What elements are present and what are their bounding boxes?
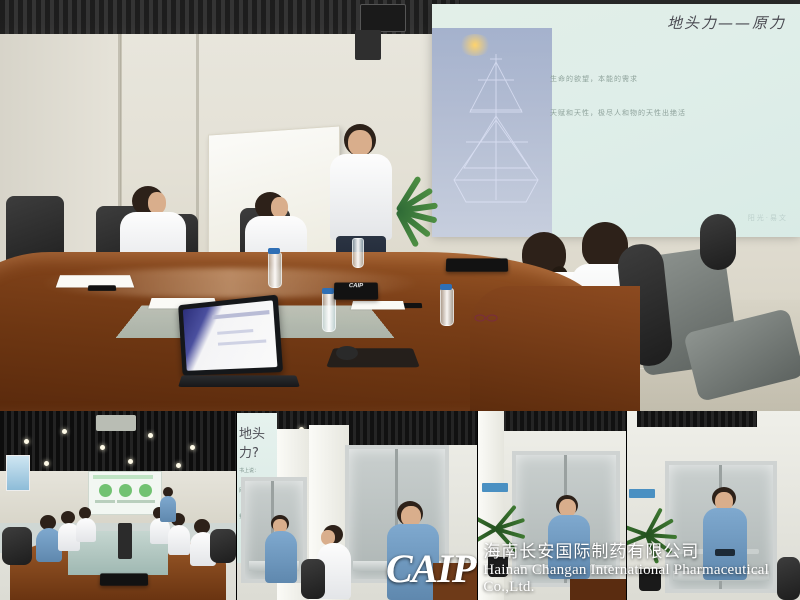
- bottle-cap: [322, 288, 334, 294]
- office-chair: [301, 559, 325, 599]
- company-name-cn: 海南长安国际制药有限公司: [483, 542, 800, 562]
- sailing-ship-illustration: [440, 50, 552, 230]
- sub-photo-a: [0, 411, 236, 600]
- projection-screen: [88, 471, 162, 515]
- office-chair: [2, 527, 32, 565]
- bottle-cap: [440, 284, 452, 290]
- ceiling-grille: [637, 411, 757, 427]
- ceiling-vent: [360, 4, 406, 32]
- watermark-text: 海南长安国际制药有限公司 Hainan Changan Internationa…: [483, 542, 800, 596]
- bottle-cap: [268, 248, 280, 254]
- table-nameplate: [446, 258, 509, 271]
- nameplate-label: CAIP: [334, 283, 378, 291]
- projection-screen: 地头力——原力 生命的欲望，本能的需求 天赋和天性，极尽人和物的天性出绝活 阳光…: [432, 4, 800, 237]
- water-bottle: [352, 238, 364, 268]
- slide-footer: 阳光·易文: [748, 213, 788, 223]
- panel-divider: [236, 411, 237, 600]
- water-bottle: [268, 252, 282, 288]
- caip-logo: CAIP: [386, 551, 475, 587]
- wall-sign: [482, 483, 508, 492]
- desk-microphone: [118, 523, 132, 559]
- collage-canvas: 地头力——原力 生命的欲望，本能的需求 天赋和天性，极尽人和物的天性出绝活 阳光…: [0, 0, 800, 600]
- ceiling-speaker: [355, 30, 381, 60]
- wall-poster: [6, 455, 30, 491]
- smartphone: [88, 285, 117, 291]
- wall-sign: [629, 489, 655, 498]
- table-nameplate: [100, 573, 148, 585]
- computer-mouse: [336, 346, 358, 360]
- office-chair: [700, 214, 736, 270]
- slide-body-line-2: 天赋和天性，极尽人和物的天性出绝活: [550, 108, 686, 118]
- water-bottle: [440, 288, 454, 326]
- eyeglasses: [474, 314, 498, 322]
- office-chair: [210, 529, 236, 563]
- ceiling-ac-unit: [96, 415, 136, 431]
- slide-title: 地头力——原力: [667, 12, 786, 33]
- watermark: CAIP 海南长安国际制药有限公司 Hainan Changan Interna…: [386, 542, 800, 596]
- laptop-keyboard: [178, 375, 300, 387]
- paper-sheet: [351, 301, 405, 309]
- conference-table-right: [470, 286, 640, 411]
- main-photo: 地头力——原力 生命的欲望，本能的需求 天赋和天性，极尽人和物的天性出绝活 阳光…: [0, 0, 800, 411]
- company-name-en: Hainan Changan International Pharmaceuti…: [483, 562, 800, 596]
- laptop-screen: [183, 300, 278, 371]
- table-nameplate: CAIP: [334, 283, 378, 300]
- slide-body-line-1: 生命的欲望，本能的需求: [550, 74, 638, 84]
- laptop: [178, 295, 283, 376]
